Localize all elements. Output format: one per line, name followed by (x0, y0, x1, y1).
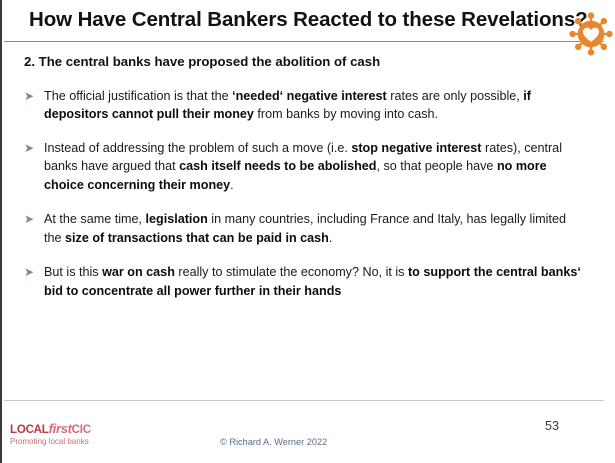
slide-canvas: How Have Central Bankers Reacted to thes… (0, 0, 615, 463)
body-text: rates are only possible, (387, 89, 524, 103)
bullet-text-0: The official justification is that the ‘… (44, 89, 531, 122)
bullet-list: ➤ The official justification is that the… (2, 87, 615, 301)
emphasis-text: stop negative interest (351, 141, 481, 155)
arrow-bullet-icon: ➤ (24, 211, 36, 229)
body-text: from banks by moving into cash. (254, 107, 438, 121)
arrow-bullet-icon: ➤ (24, 88, 36, 106)
list-item: ➤ The official justification is that the… (24, 87, 581, 124)
body-text: . (230, 178, 234, 192)
body-text: The official justification is that the (44, 89, 232, 103)
page-title: How Have Central Bankers Reacted to thes… (29, 8, 588, 32)
slide-body: 2. The central banks have proposed the a… (2, 54, 615, 300)
title-divider (4, 41, 604, 42)
arrow-bullet-icon: ➤ (24, 140, 36, 158)
body-text: But is this (44, 265, 102, 279)
list-item: ➤ At the same time, legislation in many … (24, 210, 581, 247)
emphasis-text: ‘needed‘ negative interest (232, 89, 387, 103)
page-number: 53 (545, 419, 559, 433)
body-text: really to stimulate the economy? No, it … (175, 265, 408, 279)
emphasis-text: war on cash (102, 265, 175, 279)
virus-icon (568, 11, 614, 57)
body-text: , so that people have (377, 159, 497, 173)
arrow-bullet-icon: ➤ (24, 264, 36, 282)
bullet-text-2: At the same time, legislation in many co… (44, 212, 566, 245)
section-heading: 2. The central banks have proposed the a… (24, 54, 615, 71)
body-text: At the same time, (44, 212, 146, 226)
bullet-text-1: Instead of addressing the problem of suc… (44, 141, 562, 192)
localfirst-logo: LOCALfirstCIC (10, 421, 91, 437)
emphasis-text: size of transactions that can be paid in… (65, 231, 329, 245)
logo-word-first: first (49, 421, 72, 436)
list-item: ➤ Instead of addressing the problem of s… (24, 139, 581, 195)
body-text: Instead of addressing the problem of suc… (44, 141, 351, 155)
emphasis-text: legislation (146, 212, 208, 226)
emphasis-text: cash itself needs to be abolished (179, 159, 376, 173)
slide-title-area: How Have Central Bankers Reacted to thes… (2, 0, 615, 42)
copyright-notice: © Richard A. Werner 2022 (220, 437, 327, 447)
logo-tagline: Promoting local banks (10, 437, 89, 446)
logo-word-local: LOCAL (10, 424, 49, 436)
footer-divider (4, 400, 604, 401)
section-heading-text: The central banks have proposed the abol… (39, 54, 380, 69)
section-heading-number: 2. (24, 54, 35, 69)
body-text: . (329, 231, 333, 245)
bullet-text-3: But is this war on cash really to stimul… (44, 265, 581, 298)
list-item: ➤ But is this war on cash really to stim… (24, 263, 581, 300)
logo-word-cic: CIC (72, 424, 91, 436)
